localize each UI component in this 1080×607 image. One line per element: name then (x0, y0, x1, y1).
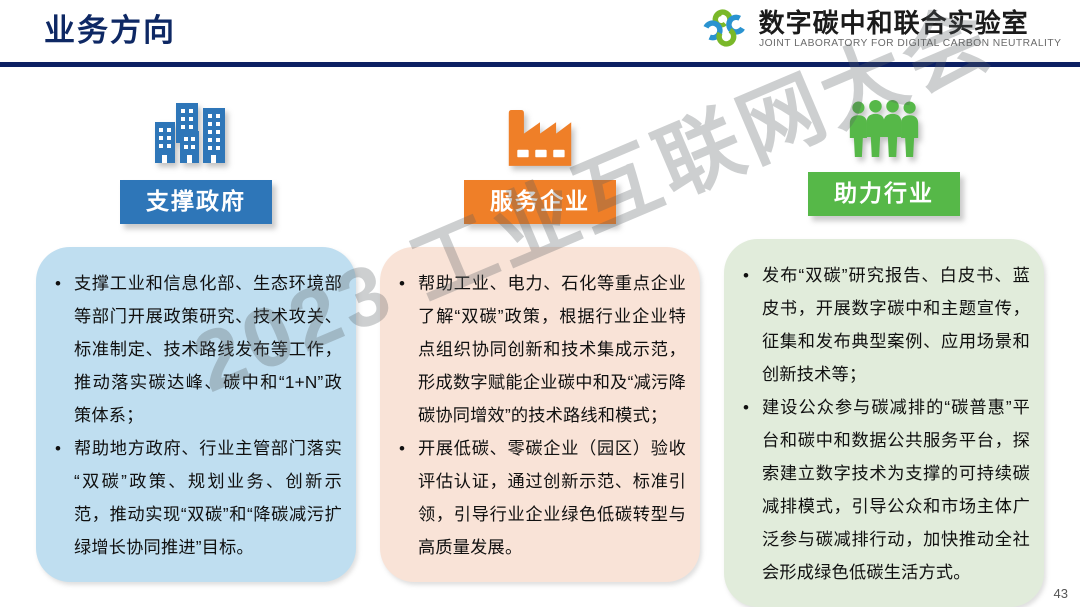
banner-government[interactable]: 支撑政府 (120, 180, 272, 224)
banner-industry[interactable]: 助力行业 (808, 172, 960, 216)
city-buildings-icon (153, 88, 239, 166)
card-enterprise: 帮助工业、电力、石化等重点企业了解“双碳”政策，根据行业企业特点组织协同创新和技… (380, 247, 700, 582)
bullet-list-industry: 发布“双碳”研究报告、白皮书、蓝皮书，开展数字碳中和主题宣传，征集和发布典型案例… (734, 259, 1030, 589)
lab-logo: 数字碳中和联合实验室 JOINT LABORATORY FOR DIGITAL … (702, 6, 1058, 52)
column-industry: 助力行业 发布“双碳”研究报告、白皮书、蓝皮书，开展数字碳中和主题宣传，征集和发… (724, 66, 1044, 607)
page-title: 业务方向 (44, 11, 176, 51)
list-item: 帮助地方政府、行业主管部门落实“双碳”政策、规划业务、创新示范，推动实现“双碳”… (46, 432, 342, 564)
banner-enterprise[interactable]: 服务企业 (464, 180, 616, 224)
four-leaf-circles-logo-icon (702, 6, 750, 52)
bullet-list-enterprise: 帮助工业、电力、石化等重点企业了解“双碳”政策，根据行业企业特点组织协同创新和技… (390, 267, 686, 564)
logo-name-en: JOINT LABORATORY FOR DIGITAL CARBON NEUT… (759, 37, 1061, 50)
slide: 业务方向 数字碳中和联合实验室 JOINT LABORATORY FOR DIG (0, 0, 1080, 607)
logo-name-cn: 数字碳中和联合实验室 (759, 9, 1058, 37)
list-item: 支撑工业和信息化部、生态环境部等部门开展政策研究、技术攻关、标准制定、技术路线发… (46, 267, 342, 432)
list-item: 开展低碳、零碳企业（园区）验收评估认证，通过创新示范、标准引领，引导行业企业绿色… (390, 432, 686, 564)
list-item: 建设公众参与碳减排的“碳普惠”平台和碳中和数据公共服务平台，探索建立数字技术为支… (734, 391, 1030, 589)
page-number: 43 (1054, 586, 1068, 601)
people-group-icon (847, 88, 921, 158)
logo-text: 数字碳中和联合实验室 JOINT LABORATORY FOR DIGITAL … (759, 9, 1058, 50)
column-enterprise: 服务企业 帮助工业、电力、石化等重点企业了解“双碳”政策，根据行业企业特点组织协… (380, 66, 700, 607)
card-industry: 发布“双碳”研究报告、白皮书、蓝皮书，开展数字碳中和主题宣传，征集和发布典型案例… (724, 239, 1044, 607)
factory-icon (505, 88, 575, 166)
slide-header: 业务方向 数字碳中和联合实验室 JOINT LABORATORY FOR DIG (0, 0, 1080, 66)
bullet-list-government: 支撑工业和信息化部、生态环境部等部门开展政策研究、技术攻关、标准制定、技术路线发… (46, 267, 342, 564)
list-item: 发布“双碳”研究报告、白皮书、蓝皮书，开展数字碳中和主题宣传，征集和发布典型案例… (734, 259, 1030, 391)
list-item: 帮助工业、电力、石化等重点企业了解“双碳”政策，根据行业企业特点组织协同创新和技… (390, 267, 686, 432)
card-government: 支撑工业和信息化部、生态环境部等部门开展政策研究、技术攻关、标准制定、技术路线发… (36, 247, 356, 582)
business-direction-columns: 支撑政府 支撑工业和信息化部、生态环境部等部门开展政策研究、技术攻关、标准制定、… (0, 66, 1080, 607)
column-government: 支撑政府 支撑工业和信息化部、生态环境部等部门开展政策研究、技术攻关、标准制定、… (36, 66, 356, 607)
